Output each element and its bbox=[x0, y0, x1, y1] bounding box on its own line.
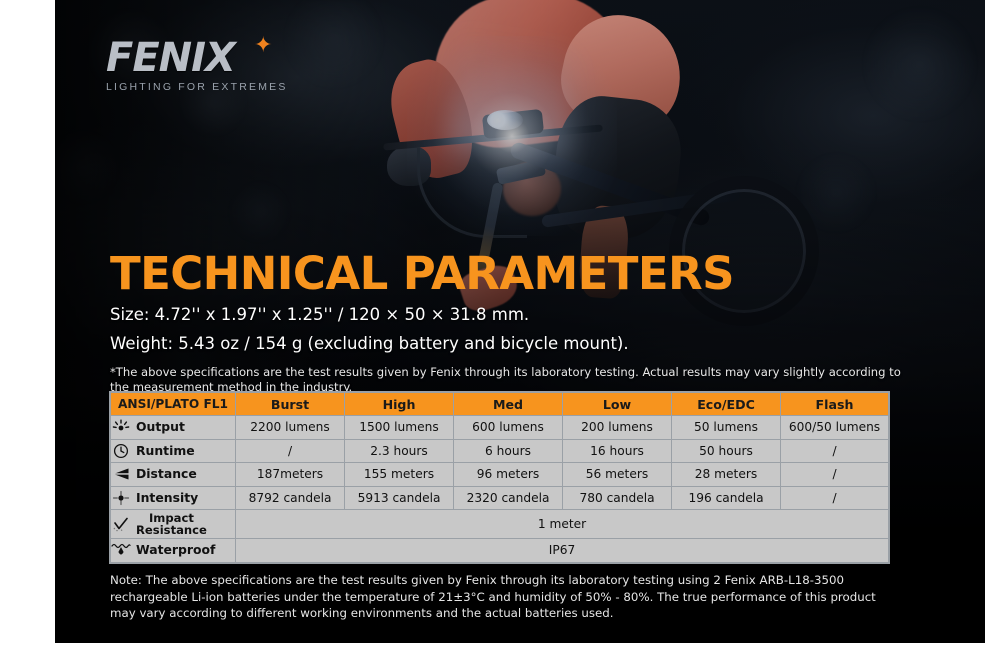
table-row: Runtime / 2.3 hours 6 hours 16 hours 50 … bbox=[111, 439, 889, 463]
logo-tagline: LIGHTING FOR EXTREMES bbox=[106, 81, 336, 93]
row-label-text: Waterproof bbox=[136, 544, 215, 557]
cell-distance-eco: 28 meters bbox=[672, 463, 781, 487]
impact-label-line2: Resistance bbox=[136, 523, 207, 537]
table-row: Waterproof IP67 bbox=[111, 539, 889, 563]
cell-output-burst: 2200 lumens bbox=[236, 416, 345, 440]
cell-distance-med: 96 meters bbox=[454, 463, 563, 487]
star-icon: ✦ bbox=[254, 34, 272, 56]
table-row: Output 2200 lumens 1500 lumens 600 lumen… bbox=[111, 416, 889, 440]
table-row: Intensity 8792 candela 5913 candela 2320… bbox=[111, 486, 889, 510]
table-body: Output 2200 lumens 1500 lumens 600 lumen… bbox=[111, 416, 889, 563]
row-label-runtime: Runtime bbox=[111, 439, 236, 463]
row-label-impact-resistance: Impact Resistance bbox=[111, 510, 236, 539]
footer-note: Note: The above specifications are the t… bbox=[110, 572, 900, 622]
specs-disclaimer: *The above specifications are the test r… bbox=[110, 365, 905, 395]
row-label-distance: Distance bbox=[111, 463, 236, 487]
table-row: Impact Resistance 1 meter bbox=[111, 510, 889, 539]
row-label-text: Impact Resistance bbox=[136, 512, 207, 537]
column-header-high: High bbox=[345, 393, 454, 416]
column-header-low: Low bbox=[563, 393, 672, 416]
column-header-med: Med bbox=[454, 393, 563, 416]
column-header-burst: Burst bbox=[236, 393, 345, 416]
cell-distance-flash: / bbox=[781, 463, 889, 487]
clock-icon bbox=[111, 442, 131, 460]
row-label-text: Output bbox=[136, 421, 185, 434]
cell-intensity-flash: / bbox=[781, 486, 889, 510]
weight-line: Weight: 5.43 oz / 154 g (excluding batte… bbox=[110, 331, 900, 356]
cell-runtime-high: 2.3 hours bbox=[345, 439, 454, 463]
row-label-waterproof: Waterproof bbox=[111, 539, 236, 563]
row-label-intensity: Intensity bbox=[111, 486, 236, 510]
table-row: Distance 187meters 155 meters 96 meters … bbox=[111, 463, 889, 487]
cell-waterproof-value: IP67 bbox=[236, 539, 889, 563]
logo-wordmark: FENIX bbox=[106, 38, 336, 78]
size-line: Size: 4.72'' x 1.97'' x 1.25'' / 120 × 5… bbox=[110, 302, 900, 327]
bike-light-led bbox=[487, 110, 523, 130]
waterproof-icon bbox=[111, 541, 131, 559]
cell-runtime-low: 16 hours bbox=[563, 439, 672, 463]
cell-runtime-flash: / bbox=[781, 439, 889, 463]
cell-runtime-burst: / bbox=[236, 439, 345, 463]
table-header-row: ANSI/PLATO FL1 Burst High Med Low Eco/ED… bbox=[111, 393, 889, 416]
beam-distance-icon bbox=[111, 465, 131, 483]
brake-cable bbox=[417, 148, 527, 238]
cell-intensity-burst: 8792 candela bbox=[236, 486, 345, 510]
cell-intensity-eco: 196 candela bbox=[672, 486, 781, 510]
cell-distance-low: 56 meters bbox=[563, 463, 672, 487]
cell-output-med: 600 lumens bbox=[454, 416, 563, 440]
cell-distance-burst: 187meters bbox=[236, 463, 345, 487]
intensity-crosshair-icon bbox=[111, 489, 131, 507]
cell-runtime-eco: 50 hours bbox=[672, 439, 781, 463]
column-header-standard: ANSI/PLATO FL1 bbox=[111, 393, 236, 416]
cell-output-flash: 600/50 lumens bbox=[781, 416, 889, 440]
column-header-eco-edc: Eco/EDC bbox=[672, 393, 781, 416]
cell-intensity-med: 2320 candela bbox=[454, 486, 563, 510]
fenix-logo: FENIX ✦ LIGHTING FOR EXTREMES bbox=[106, 38, 336, 90]
cell-intensity-high: 5913 candela bbox=[345, 486, 454, 510]
row-label-text: Runtime bbox=[136, 445, 195, 458]
cell-output-high: 1500 lumens bbox=[345, 416, 454, 440]
page-title: TECHNICAL PARAMETERS bbox=[110, 250, 900, 298]
cell-output-eco: 50 lumens bbox=[672, 416, 781, 440]
light-output-icon bbox=[111, 418, 131, 436]
cell-impact-resistance-value: 1 meter bbox=[236, 510, 889, 539]
technical-parameters-table: ANSI/PLATO FL1 Burst High Med Low Eco/ED… bbox=[110, 392, 889, 563]
product-spec-page: FENIX ✦ LIGHTING FOR EXTREMES TECHNICAL … bbox=[0, 0, 1000, 667]
row-label-text: Intensity bbox=[136, 492, 198, 505]
row-label-text: Distance bbox=[136, 468, 197, 481]
headline-block: TECHNICAL PARAMETERS Size: 4.72'' x 1.97… bbox=[110, 250, 900, 395]
cell-output-low: 200 lumens bbox=[563, 416, 672, 440]
cell-runtime-med: 6 hours bbox=[454, 439, 563, 463]
row-label-output: Output bbox=[111, 416, 236, 440]
column-header-flash: Flash bbox=[781, 393, 889, 416]
cell-distance-high: 155 meters bbox=[345, 463, 454, 487]
cell-intensity-low: 780 candela bbox=[563, 486, 672, 510]
table-header: ANSI/PLATO FL1 Burst High Med Low Eco/ED… bbox=[111, 393, 889, 416]
impact-resistance-icon bbox=[111, 515, 131, 533]
